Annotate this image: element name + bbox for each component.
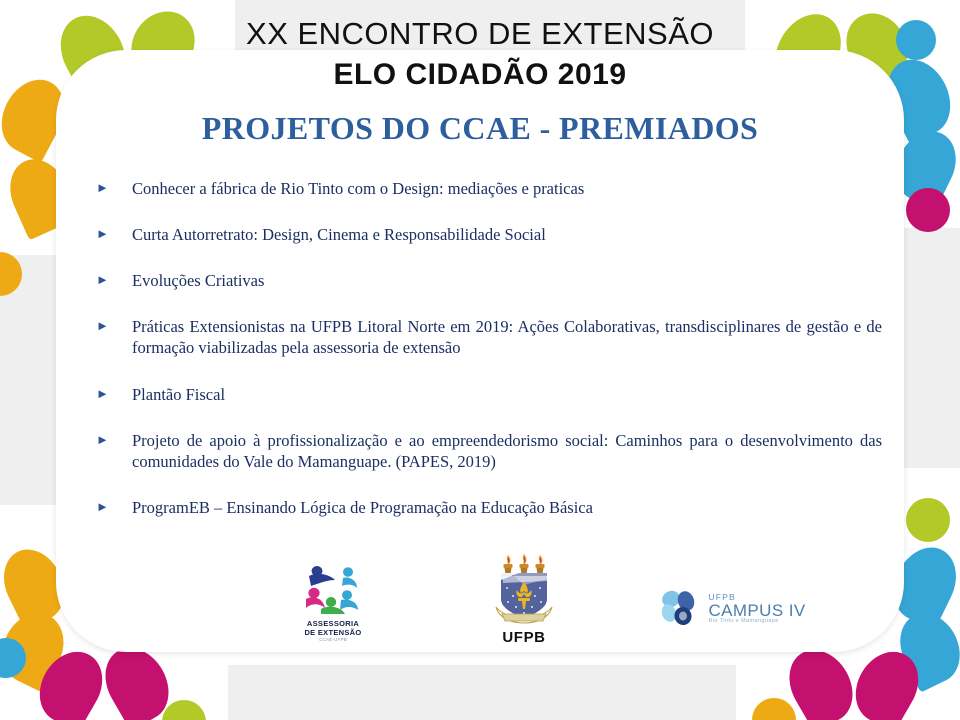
list-item: ►Projeto de apoio à profissionalização e… — [96, 430, 882, 472]
logo-ufpb: UFPB — [474, 552, 574, 646]
event-name-line1: XX ENCONTRO DE EXTENSÃO — [0, 16, 960, 52]
logo-row: ASSESSORIA DE EXTENSÃO CCAE-UFPB — [56, 556, 904, 656]
logo-ufpb-campus-iv: UFPB CAMPUS IV Rio Tinto e Mamanguape — [652, 588, 812, 630]
bullet-triangle-icon: ► — [96, 316, 132, 332]
bullet-triangle-icon: ► — [96, 497, 132, 513]
list-item: ►Plantão Fiscal — [96, 384, 882, 405]
page-title: PROJETOS DO CCAE - PREMIADOS — [0, 110, 960, 147]
logo-assessoria-de-extensao: ASSESSORIA DE EXTENSÃO CCAE-UFPB — [278, 562, 388, 642]
assessoria-caption-sub: CCAE-UFPB — [278, 637, 388, 642]
event-name-line2: ELO CIDADÃO 2019 — [0, 58, 960, 92]
ufpb-wordmark: UFPB — [474, 629, 574, 646]
list-item: ►Conhecer a fábrica de Rio Tinto com o D… — [96, 178, 882, 199]
assessoria-de-extensao-people-icon — [301, 562, 365, 618]
petal-right-green-dot — [906, 498, 950, 542]
background-band-right — [900, 228, 960, 468]
bullet-triangle-icon: ► — [96, 430, 132, 446]
campus-tiny-label: Rio Tinto e Mamanguape — [708, 619, 805, 625]
ufpb-campus-iv-dots-icon — [658, 588, 702, 630]
list-item: ►Curta Autorretrato: Design, Cinema e Re… — [96, 224, 882, 245]
bullet-triangle-icon: ► — [96, 224, 132, 240]
ufpb-coat-of-arms-icon — [491, 552, 557, 628]
awarded-projects-list: ►Conhecer a fábrica de Rio Tinto com o D… — [96, 178, 882, 543]
bullet-triangle-icon: ► — [96, 384, 132, 400]
project-title: Plantão Fiscal — [132, 384, 882, 405]
list-item: ►Evoluções Criativas — [96, 270, 882, 291]
project-title: ProgramEB – Ensinando Lógica de Programa… — [132, 497, 882, 518]
campus-big-label: CAMPUS IV — [708, 602, 805, 620]
background-band-bottom — [228, 665, 736, 720]
bullet-triangle-icon: ► — [96, 178, 132, 194]
list-item: ►ProgramEB – Ensinando Lógica de Program… — [96, 497, 882, 518]
project-title: Projeto de apoio à profissionalização e … — [132, 430, 882, 472]
bullet-triangle-icon: ► — [96, 270, 132, 286]
petal-right-magenta-dot — [906, 188, 950, 232]
petal-bottom-left-green-dot — [162, 700, 206, 720]
project-title: Conhecer a fábrica de Rio Tinto com o De… — [132, 178, 882, 199]
project-title: Práticas Extensionistas na UFPB Litoral … — [132, 316, 882, 358]
list-item: ►Práticas Extensionistas na UFPB Litoral… — [96, 316, 882, 358]
presentation-slide: XX ENCONTRO DE EXTENSÃO ELO CIDADÃO 2019… — [0, 0, 960, 720]
assessoria-caption-line2: DE EXTENSÃO — [278, 629, 388, 638]
petal-bottom-right-amber-dot — [752, 698, 796, 720]
project-title: Curta Autorretrato: Design, Cinema e Res… — [132, 224, 882, 245]
project-title: Evoluções Criativas — [132, 270, 882, 291]
